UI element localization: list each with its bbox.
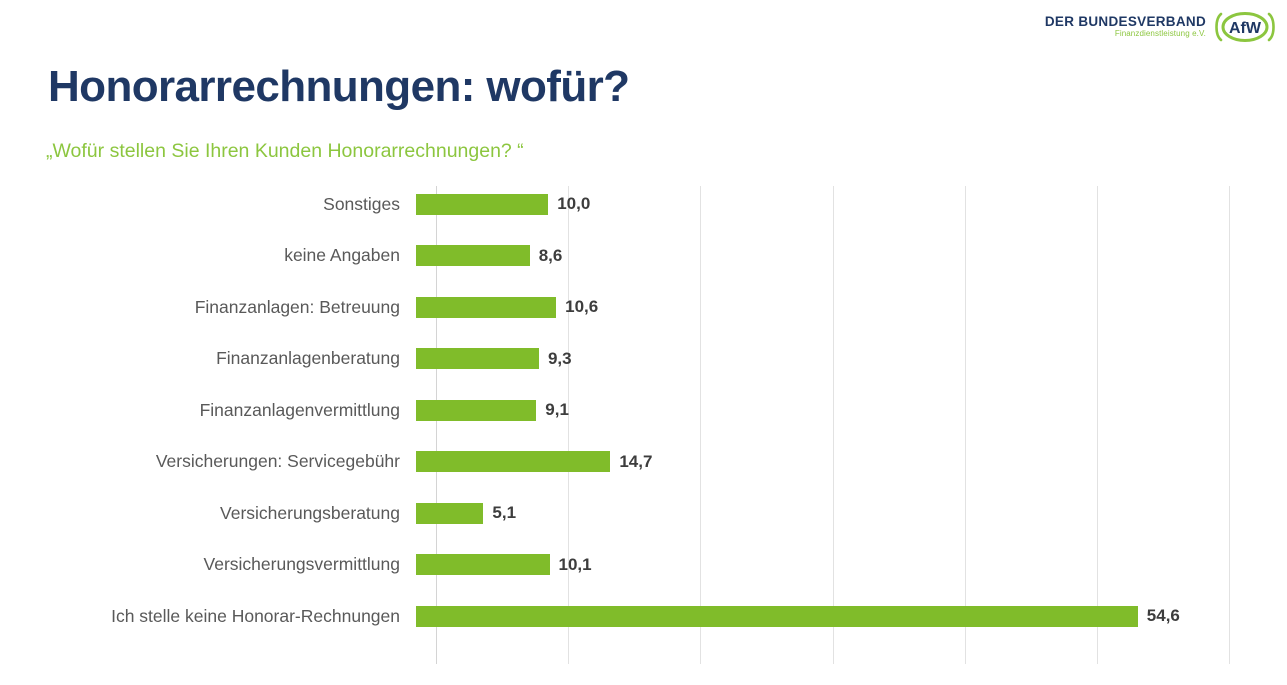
bar-value-label: 9,1 [545,400,569,420]
bar-chart: Sonstiges10,0keine Angaben8,6Finanzanlag… [0,186,1287,666]
page-subtitle: „Wofür stellen Sie Ihren Kunden Honorarr… [46,140,524,163]
category-label: Finanzanlagenvermittlung [0,400,416,421]
bar-value-label: 10,0 [557,194,590,214]
bar-track: 8,6 [416,233,1287,279]
bar-value-label: 14,7 [619,452,652,472]
bar-track: 10,1 [416,542,1287,588]
bar-track: 9,3 [416,336,1287,382]
bar-row: Finanzanlagenberatung9,3 [0,336,1287,382]
bar-track: 9,1 [416,387,1287,433]
bar-row: Versicherungen: Servicegebühr14,7 [0,439,1287,485]
category-label: Ich stelle keine Honorar-Rechnungen [0,606,416,627]
bar [416,348,539,369]
bar-row: Versicherungsvermittlung10,1 [0,542,1287,588]
bar-value-label: 54,6 [1147,606,1180,626]
bar-row: keine Angaben8,6 [0,233,1287,279]
category-label: Finanzanlagenberatung [0,348,416,369]
logo-line-primary: DER BUNDESVERBAND [1045,15,1206,29]
bar [416,194,548,215]
bar-track: 54,6 [416,593,1287,639]
bar-row: Versicherungsberatung5,1 [0,490,1287,536]
page-title: Honorarrechnungen: wofür? [48,62,629,112]
bar-value-label: 9,3 [548,349,572,369]
category-label: keine Angaben [0,245,416,266]
bar [416,503,483,524]
bar [416,400,536,421]
afw-emblem-icon: AfW [1213,11,1277,43]
bar [416,451,610,472]
bar-value-label: 10,6 [565,297,598,317]
category-label: Finanzanlagen: Betreuung [0,297,416,318]
bar [416,245,530,266]
svg-text:AfW: AfW [1229,20,1262,37]
bar-value-label: 10,1 [559,555,592,575]
bar-row: Finanzanlagen: Betreuung10,6 [0,284,1287,330]
category-label: Versicherungsvermittlung [0,554,416,575]
bar [416,606,1138,627]
category-label: Versicherungen: Servicegebühr [0,451,416,472]
category-label: Versicherungsberatung [0,503,416,524]
bar-track: 14,7 [416,439,1287,485]
bar-row: Ich stelle keine Honorar-Rechnungen54,6 [0,593,1287,639]
bar-value-label: 5,1 [492,503,516,523]
bar-track: 5,1 [416,490,1287,536]
bar-value-label: 8,6 [539,246,563,266]
category-label: Sonstiges [0,194,416,215]
afw-logo: DER BUNDESVERBAND Finanzdienstleistung e… [1045,11,1277,43]
logo-text-block: DER BUNDESVERBAND Finanzdienstleistung e… [1045,15,1206,39]
bar [416,554,550,575]
bar-row: Finanzanlagenvermittlung9,1 [0,387,1287,433]
bar-track: 10,6 [416,284,1287,330]
bar-rows: Sonstiges10,0keine Angaben8,6Finanzanlag… [0,186,1287,664]
bar-track: 10,0 [416,181,1287,227]
bar [416,297,556,318]
logo-line-secondary: Finanzdienstleistung e.V. [1045,30,1206,38]
bar-row: Sonstiges10,0 [0,181,1287,227]
